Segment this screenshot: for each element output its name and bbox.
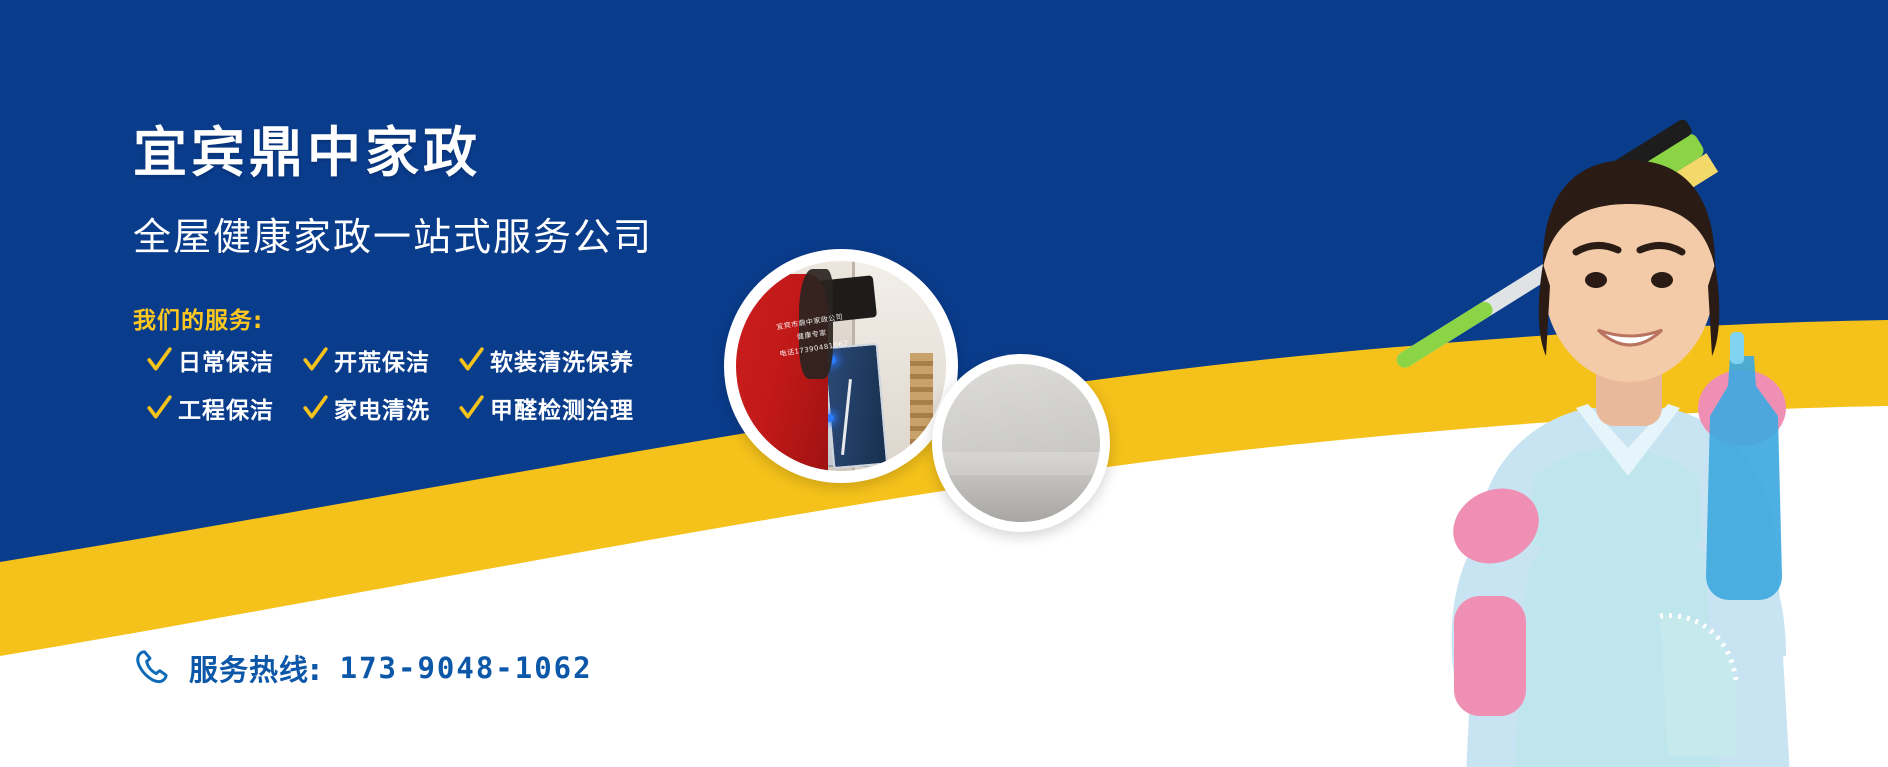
- page-title: 宜宾鼎中家政: [133, 126, 481, 180]
- service-label: 软装清洗保养: [490, 343, 634, 377]
- check-icon: [146, 347, 172, 373]
- brand-subtitle: 全屋健康家政一站式服务公司: [133, 218, 653, 256]
- services-list: 日常保洁 开荒保洁 软装清洗保养: [146, 336, 662, 432]
- hotline-number: 173-9048-1062: [340, 651, 593, 685]
- banner-content: 宜宾鼎中家政 全屋健康家政一站式服务公司 我们的服务: 日常保洁 开荒保洁: [0, 0, 1888, 767]
- service-item[interactable]: 日常保洁: [146, 343, 274, 377]
- service-item[interactable]: 工程保洁: [146, 391, 274, 425]
- check-icon: [146, 395, 172, 421]
- services-row: 工程保洁 家电清洗 甲醛检测治理: [146, 384, 662, 432]
- check-icon: [458, 395, 484, 421]
- service-label: 甲醛检测治理: [490, 391, 634, 425]
- hotline[interactable]: 服务热线: 173-9048-1062: [133, 647, 593, 689]
- services-label: 我们的服务:: [133, 301, 263, 335]
- service-item[interactable]: 软装清洗保养: [458, 343, 634, 377]
- service-item[interactable]: 开荒保洁: [302, 343, 430, 377]
- service-item[interactable]: 甲醛检测治理: [458, 391, 634, 425]
- hotline-label: 服务热线:: [189, 647, 322, 689]
- check-icon: [302, 347, 328, 373]
- service-label: 开荒保洁: [334, 343, 430, 377]
- check-icon: [302, 395, 328, 421]
- service-item[interactable]: 家电清洗: [302, 391, 430, 425]
- promo-banner: 宜宾市鼎中家政公司健康专家电话17390481062: [0, 0, 1888, 767]
- services-row: 日常保洁 开荒保洁 软装清洗保养: [146, 336, 662, 384]
- phone-icon: [133, 647, 175, 689]
- service-label: 工程保洁: [178, 391, 274, 425]
- service-label: 家电清洗: [334, 391, 430, 425]
- service-label: 日常保洁: [178, 343, 274, 377]
- check-icon: [458, 347, 484, 373]
